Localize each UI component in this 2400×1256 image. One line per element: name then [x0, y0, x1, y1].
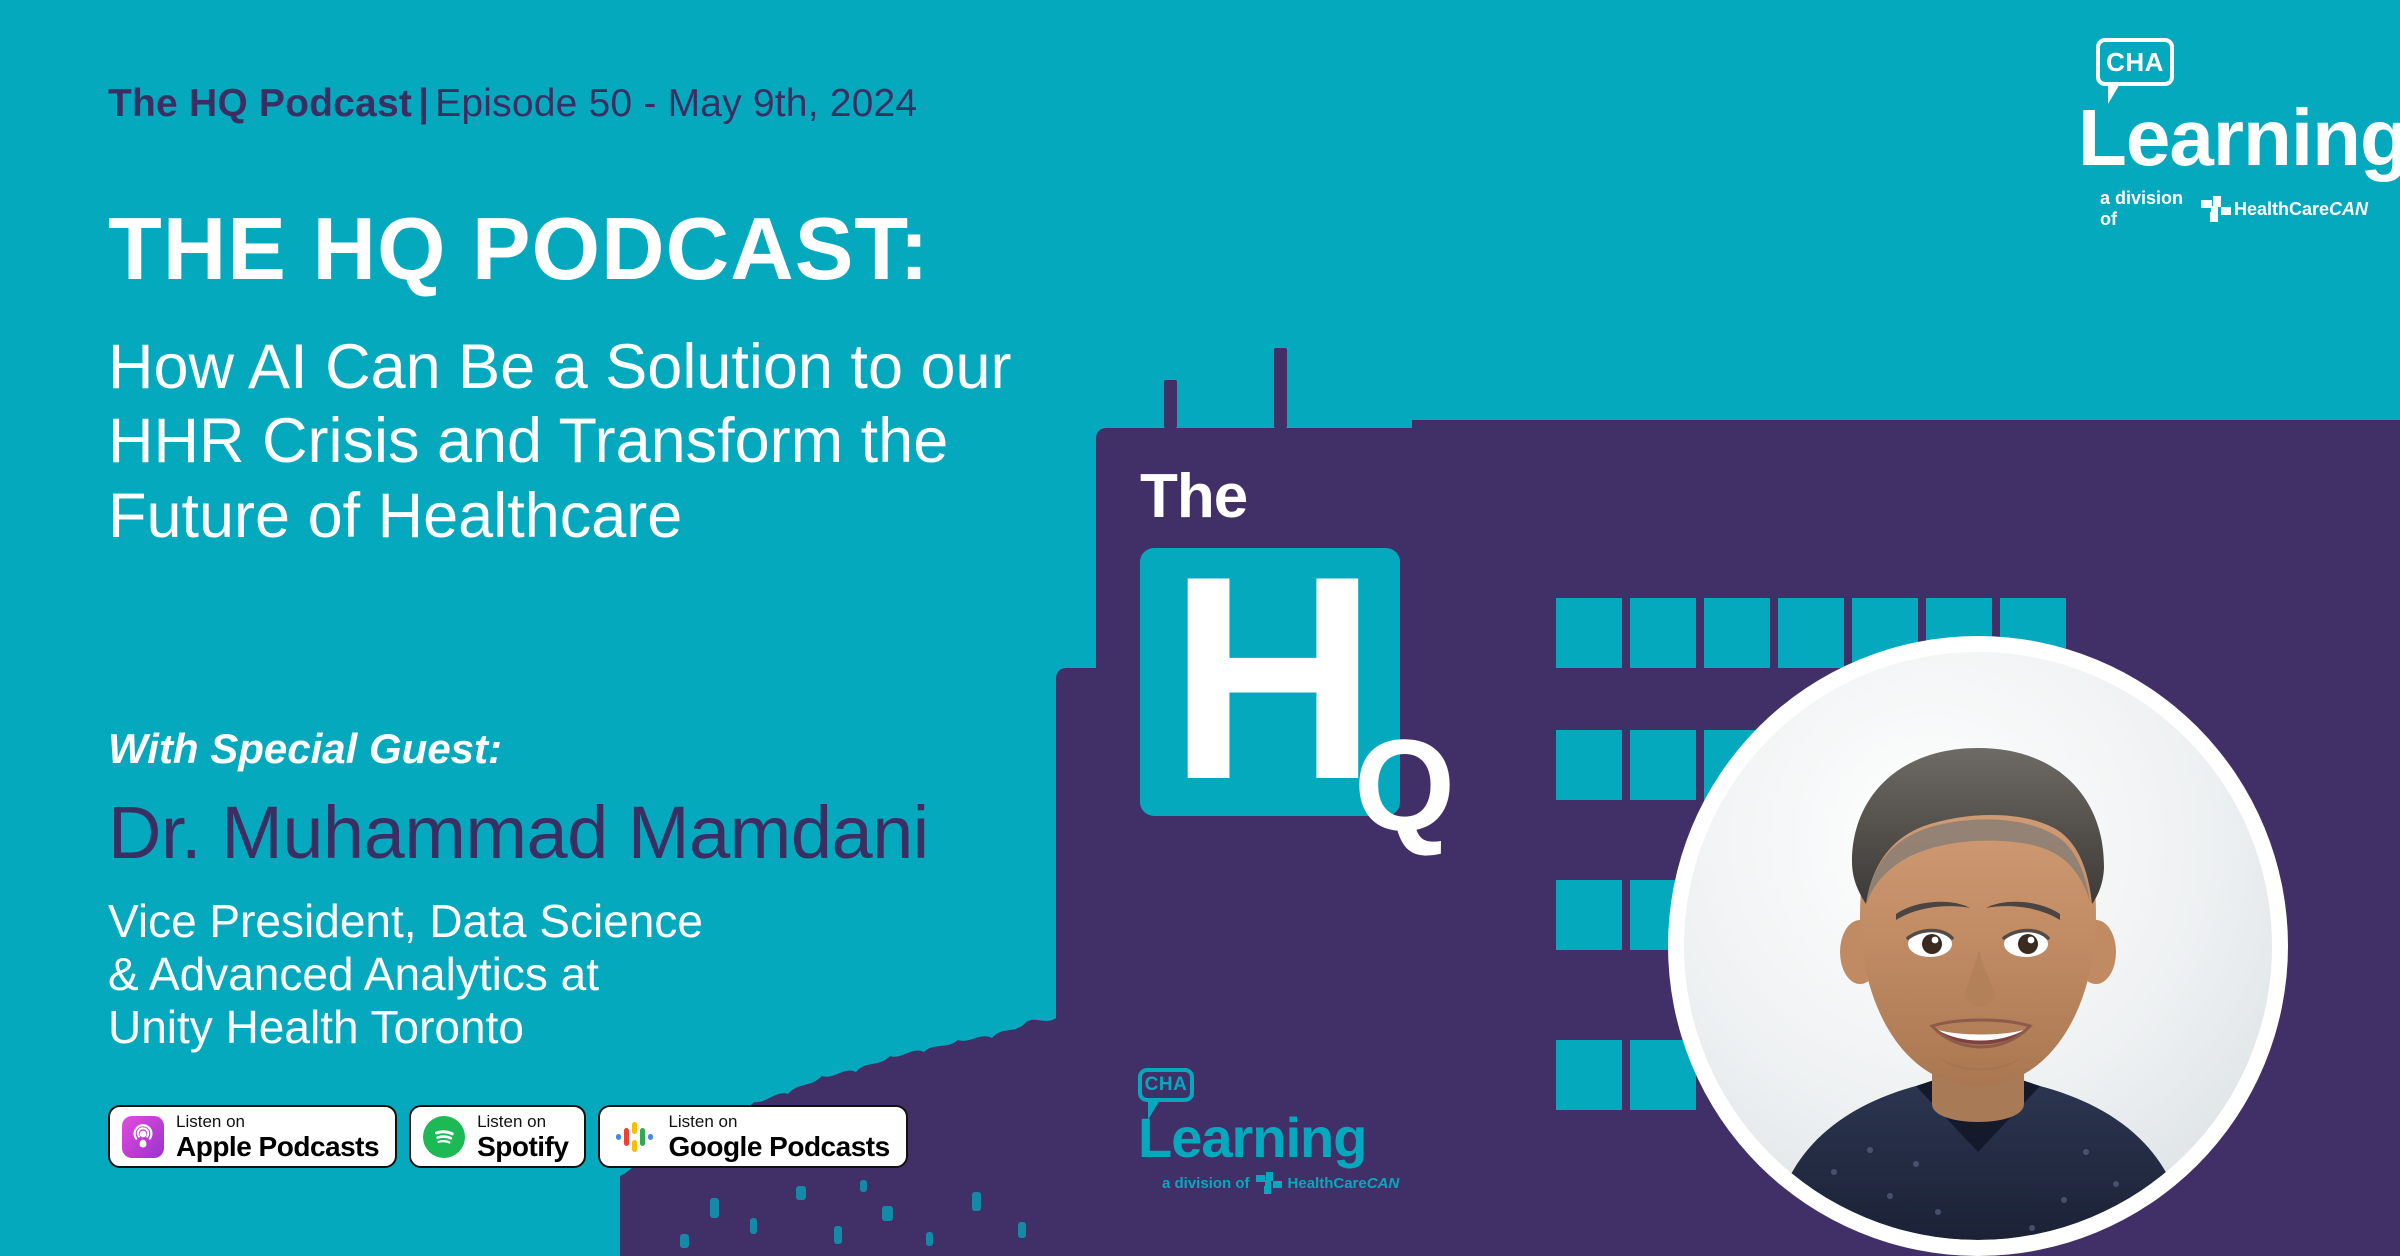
building-window	[1630, 730, 1696, 800]
apple-badge-text: Listen on Apple Podcasts	[176, 1113, 379, 1161]
apple-badge-line1: Listen on	[176, 1113, 379, 1130]
spotify-badge-line2: Spotify	[477, 1133, 568, 1161]
cha-wordmark: Learning	[1138, 1110, 1399, 1166]
cha-bubble-icon: CHA	[2096, 38, 2174, 86]
building-window	[1556, 1040, 1622, 1110]
subtitle-line-2: HHR Crisis and Transform the	[108, 404, 1012, 478]
hq-mark-h-letter: H	[1168, 565, 1371, 791]
cha-wordmark: Learning	[2078, 98, 2368, 178]
google-badge-text: Listen on Google Podcasts	[668, 1113, 889, 1161]
apple-podcasts-icon	[122, 1116, 164, 1158]
episode-eyebrow: The HQ Podcast|Episode 50 - May 9th, 202…	[108, 82, 917, 126]
google-podcasts-badge[interactable]: Listen on Google Podcasts	[598, 1105, 907, 1168]
cha-learning-logo-building: CHA Learning a division of HealthCareCAN	[1138, 1068, 1399, 1194]
building-window	[1630, 598, 1696, 668]
cha-division-line: a division of HealthCareCAN	[1162, 1172, 1399, 1194]
subtitle-line-1: How AI Can Be a Solution to our	[108, 330, 1012, 404]
show-name: The HQ Podcast	[108, 82, 412, 125]
cha-bubble-icon: CHA	[1138, 1068, 1194, 1102]
spotify-badge[interactable]: Listen on Spotify	[409, 1105, 586, 1168]
guest-portrait-image	[1684, 652, 2272, 1240]
poster-canvas: The H Q CHA Learning a division of	[0, 0, 2400, 1256]
guest-portrait	[1668, 636, 2288, 1256]
building-window	[1556, 880, 1622, 950]
building-window	[1556, 730, 1622, 800]
spotify-icon	[423, 1116, 465, 1158]
eyebrow-separator: |	[412, 82, 435, 125]
guest-role-line-2: & Advanced Analytics at	[108, 948, 703, 1001]
healthcarecan-mark-icon	[2201, 196, 2228, 222]
cha-division-line: a division of HealthCareCAN	[2100, 188, 2368, 230]
parent-org-name: HealthCareCAN	[1288, 1175, 1400, 1192]
healthcarecan-mark-icon	[1256, 1172, 1282, 1194]
guest-name: Dr. Muhammad Mamdani	[108, 790, 929, 875]
guest-intro-label: With Special Guest:	[108, 725, 502, 773]
division-prefix: a division of	[1162, 1175, 1250, 1192]
apple-badge-line2: Apple Podcasts	[176, 1133, 379, 1161]
google-badge-line2: Google Podcasts	[668, 1133, 889, 1161]
google-podcasts-icon	[612, 1116, 656, 1158]
google-badge-line1: Listen on	[668, 1113, 889, 1130]
building-window	[1556, 598, 1622, 668]
avatar	[1684, 652, 2272, 1240]
building-window	[1704, 598, 1770, 668]
hq-mark-q-letter: Q	[1354, 720, 1455, 850]
spotify-badge-line1: Listen on	[477, 1113, 568, 1130]
cha-bubble-text: CHA	[1145, 1074, 1188, 1096]
episode-subtitle: How AI Can Be a Solution to our HHR Cris…	[108, 330, 1012, 553]
page-title: THE HQ PODCAST:	[108, 205, 930, 293]
subtitle-line-3: Future of Healthcare	[108, 479, 1012, 553]
antenna-mast-tall	[1274, 348, 1287, 428]
parent-org-name: HealthCareCAN	[2234, 199, 2368, 220]
division-prefix: a division of	[2100, 188, 2195, 230]
podcast-platform-badges: Listen on Apple Podcasts Listen on Spoti…	[108, 1105, 908, 1168]
episode-info: Episode 50 - May 9th, 2024	[435, 82, 917, 125]
guest-role-line-3: Unity Health Toronto	[108, 1001, 703, 1054]
cha-bubble-text: CHA	[2106, 47, 2164, 78]
spotify-badge-text: Listen on Spotify	[477, 1113, 568, 1161]
building-window	[1778, 598, 1844, 668]
antenna-mast-short	[1164, 380, 1177, 428]
cha-learning-logo-header: CHA Learning a division of HealthCareCAN	[2078, 38, 2368, 230]
apple-podcasts-badge[interactable]: Listen on Apple Podcasts	[108, 1105, 397, 1168]
guest-role-line-1: Vice President, Data Science	[108, 895, 703, 948]
guest-role: Vice President, Data Science & Advanced …	[108, 895, 703, 1054]
